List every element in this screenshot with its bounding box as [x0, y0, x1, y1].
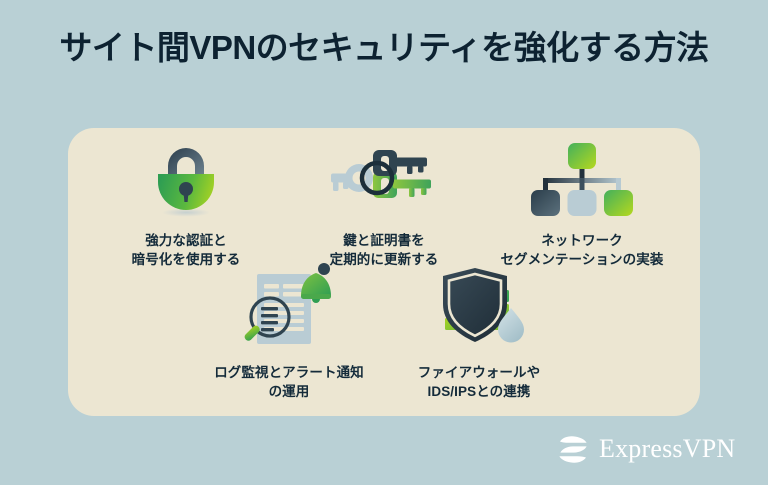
- expressvpn-logo-icon: [556, 432, 590, 466]
- shield-firewall-icon: [427, 274, 531, 352]
- tile-label: 鍵と証明書を 定期的に更新する: [330, 231, 439, 269]
- tile-firewall-ids-ips: ファイアウォールや IDS/IPSとの連携: [384, 274, 574, 401]
- log-monitoring-alert-icon: [237, 274, 341, 352]
- tile-label: 強力な認証と 暗号化を使用する: [132, 231, 241, 269]
- tile-row-bottom: ログ監視とアラート通知 の運用: [68, 274, 700, 401]
- infographic-poster: サイト間VPNのセキュリティを強化する方法: [0, 0, 768, 485]
- tile-network-segmentation: ネットワーク セグメンテーションの実装: [483, 142, 681, 269]
- tile-rotate-keys-certificates: 鍵と証明書を 定期的に更新する: [285, 142, 483, 269]
- network-segmentation-icon: [529, 142, 635, 220]
- expressvpn-wordmark: ExpressVPN: [599, 436, 735, 462]
- keys-icon: [329, 142, 439, 220]
- tile-label: ファイアウォールや IDS/IPSとの連携: [418, 363, 540, 401]
- expressvpn-logo: ExpressVPN: [556, 432, 735, 466]
- content-card: 強力な認証と 暗号化を使用する: [68, 128, 700, 416]
- padlock-icon: [149, 142, 223, 220]
- tile-label: ログ監視とアラート通知 の運用: [214, 363, 364, 401]
- tile-log-monitoring-alerts: ログ監視とアラート通知 の運用: [194, 274, 384, 401]
- page-title: サイト間VPNのセキュリティを強化する方法: [0, 26, 768, 70]
- tile-row-top: 強力な認証と 暗号化を使用する: [68, 142, 700, 269]
- tile-strong-authentication: 強力な認証と 暗号化を使用する: [87, 142, 285, 269]
